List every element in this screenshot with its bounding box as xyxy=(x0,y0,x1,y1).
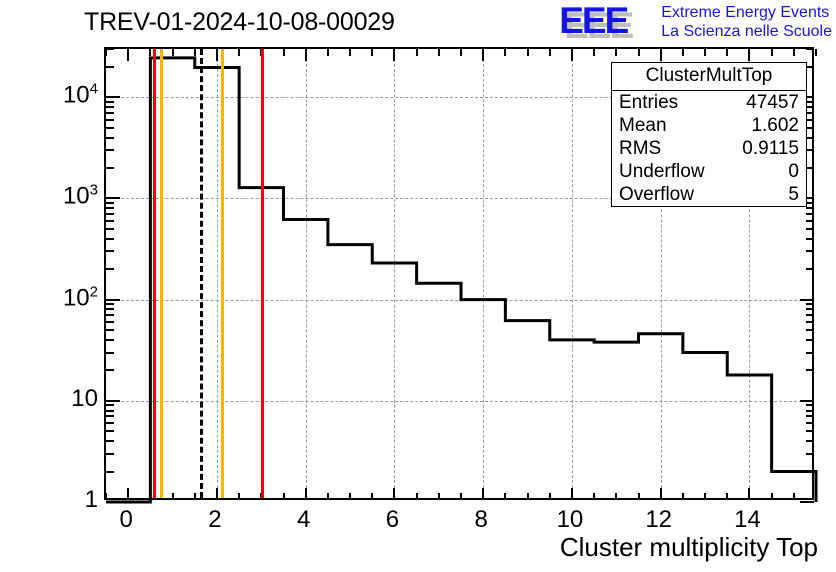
eee-logo-line2: La Scienza nelle Scuole xyxy=(661,22,832,41)
y-axis-tick-label: 1 xyxy=(85,486,98,514)
marker-line-orange-threshold-low xyxy=(160,49,163,498)
x-axis-labels: 02468101214 xyxy=(104,500,814,534)
marker-line-red-threshold-low xyxy=(153,49,156,498)
y-axis-tick-label: 10 xyxy=(71,385,98,413)
marker-line-orange-threshold-high xyxy=(221,49,224,498)
stats-row: Overflow5 xyxy=(612,183,806,206)
x-axis-tick-label: 0 xyxy=(120,506,133,534)
marker-line-red-threshold-high xyxy=(261,49,264,498)
stats-row-label: Underflow xyxy=(619,160,705,183)
x-axis-tick-label: 14 xyxy=(734,506,761,534)
x-axis-tick-label: 2 xyxy=(208,506,221,534)
x-axis-tick-label: 10 xyxy=(557,506,584,534)
eee-logo-text: Extreme Energy Events La Scienza nelle S… xyxy=(661,2,832,41)
stats-row: Entries47457 xyxy=(612,91,806,114)
stats-box: ClusterMultTop Entries47457Mean1.602RMS0… xyxy=(611,62,807,207)
page-title: TREV-01-2024-10-08-00029 xyxy=(84,8,395,37)
y-axis-labels: 110102103104 xyxy=(46,47,98,500)
root-histogram-canvas: TREV-01-2024-10-08-00029 EEE EEE Extreme… xyxy=(0,0,836,572)
marker-line-mean-dashed xyxy=(200,49,203,498)
eee-logo: EEE EEE Extreme Energy Events La Scienza… xyxy=(559,2,832,48)
stats-row-label: Overflow xyxy=(619,183,694,206)
y-axis-tick-label: 102 xyxy=(63,283,98,312)
stats-row-value: 0 xyxy=(788,160,799,183)
stats-row: Mean1.602 xyxy=(612,114,806,137)
x-axis-tick-label: 6 xyxy=(386,506,399,534)
stats-row: Underflow0 xyxy=(612,160,806,183)
x-axis-tick-label: 4 xyxy=(297,506,310,534)
x-axis-tick-label: 12 xyxy=(645,506,672,534)
stats-row-value: 5 xyxy=(788,183,799,206)
x-axis-title: Cluster multiplicity Top xyxy=(560,532,818,563)
stats-row-label: Entries xyxy=(619,91,678,114)
y-axis-tick-label: 103 xyxy=(63,182,98,211)
stats-row-value: 1.602 xyxy=(751,114,799,137)
stats-row-label: RMS xyxy=(619,137,661,160)
stats-rows: Entries47457Mean1.602RMS0.9115Underflow0… xyxy=(612,91,806,206)
stats-row-label: Mean xyxy=(619,114,667,137)
x-axis-tick-label: 8 xyxy=(475,506,488,534)
eee-logo-mark: EEE EEE xyxy=(559,2,655,42)
y-axis-tick-label: 104 xyxy=(63,81,98,110)
eee-logo-line1: Extreme Energy Events xyxy=(661,3,832,22)
stats-row-value: 47457 xyxy=(746,91,799,114)
stats-title: ClusterMultTop xyxy=(612,63,806,91)
stats-row: RMS0.9115 xyxy=(612,137,806,160)
eee-logo-front: EEE xyxy=(559,2,627,39)
stats-row-value: 0.9115 xyxy=(742,137,799,160)
